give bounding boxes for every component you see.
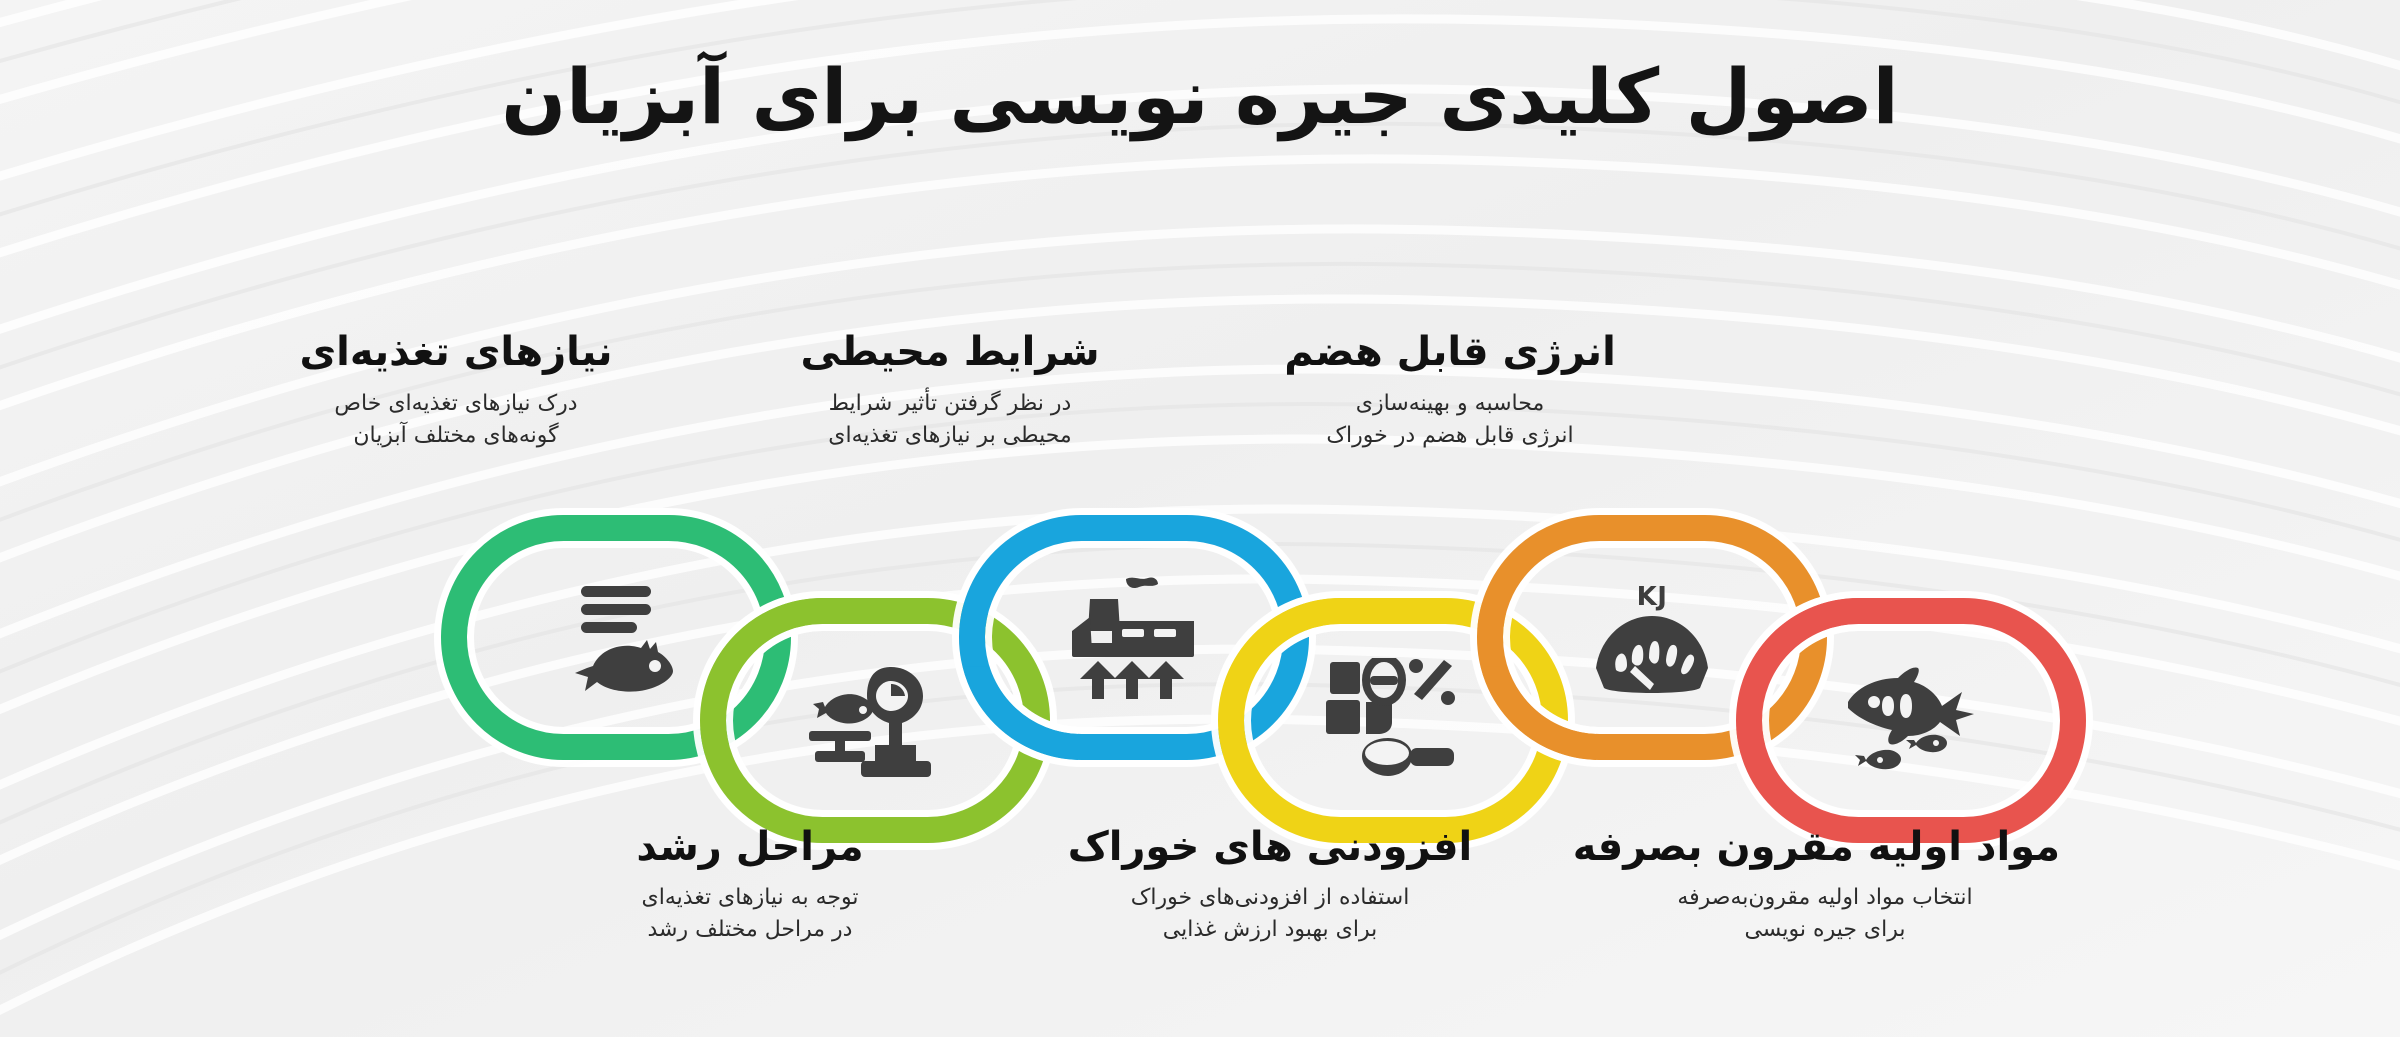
label-card-1-description: درک نیازهای تغذیه‌ای خاص گونه‌های مختلف … (246, 388, 666, 452)
label-card-6-desc-line1: انتخاب مواد اولیه مقرون‌به‌صرفه (1590, 882, 2060, 914)
label-card-2: مراحل رشد توجه به نیازهای تغذیه‌ای در مر… (540, 825, 960, 946)
page-title: اصول کلیدی جیره نویسی برای آبزیان (0, 52, 2400, 141)
label-card-6-heading: مواد اولیه مقرون بصرفه (1590, 825, 2060, 869)
label-card-1: نیازهای تغذیه‌ای درک نیازهای تغذیه‌ای خا… (246, 330, 666, 452)
label-card-1-heading: نیازهای تغذیه‌ای (246, 330, 666, 374)
label-card-5-description: محاسبه و بهینه‌سازی انرژی قابل هضم در خو… (1240, 388, 1660, 452)
label-card-4-heading: افزودنی های خوراک (1060, 825, 1480, 869)
label-card-1-desc-line2: گونه‌های مختلف آبزیان (246, 420, 666, 452)
label-card-3-desc-line2: محیطی بر نیازهای تغذیه‌ای (740, 420, 1160, 452)
label-card-5-desc-line2: انرژی قابل هضم در خوراک (1240, 420, 1660, 452)
label-card-4-desc-line2: برای بهبود ارزش غذایی (1060, 914, 1480, 946)
label-card-1-desc-line1: درک نیازهای تغذیه‌ای خاص (246, 388, 666, 420)
label-card-2-desc-line1: توجه به نیازهای تغذیه‌ای (540, 882, 960, 914)
label-card-3-desc-line1: در نظر گرفتن تأثیر شرایط (740, 388, 1160, 420)
label-card-4-desc-line1: استفاده از افزودنی‌های خوراک (1060, 882, 1480, 914)
label-card-5-heading: انرژی قابل هضم (1240, 330, 1660, 374)
label-card-5-desc-line1: محاسبه و بهینه‌سازی (1240, 388, 1660, 420)
chain-link-6[interactable] (1736, 598, 2086, 843)
label-card-2-desc-line2: در مراحل مختلف رشد (540, 914, 960, 946)
label-card-2-description: توجه به نیازهای تغذیه‌ای در مراحل مختلف … (540, 882, 960, 946)
label-card-3-heading: شرایط محیطی (740, 330, 1160, 374)
label-card-3-description: در نظر گرفتن تأثیر شرایط محیطی بر نیازها… (740, 388, 1160, 452)
label-card-6-desc-line2: برای جیره نویسی (1590, 914, 2060, 946)
label-card-4: افزودنی های خوراک استفاده از افزودنی‌های… (1060, 825, 1480, 946)
label-card-4-description: استفاده از افزودنی‌های خوراک برای بهبود … (1060, 882, 1480, 946)
label-card-6: مواد اولیه مقرون بصرفه انتخاب مواد اولیه… (1590, 825, 2060, 946)
label-card-5: انرژی قابل هضم محاسبه و بهینه‌سازی انرژی… (1240, 330, 1660, 452)
label-card-6-description: انتخاب مواد اولیه مقرون‌به‌صرفه برای جیر… (1590, 882, 2060, 946)
label-card-2-heading: مراحل رشد (540, 825, 960, 869)
label-card-3: شرایط محیطی در نظر گرفتن تأثیر شرایط محی… (740, 330, 1160, 452)
